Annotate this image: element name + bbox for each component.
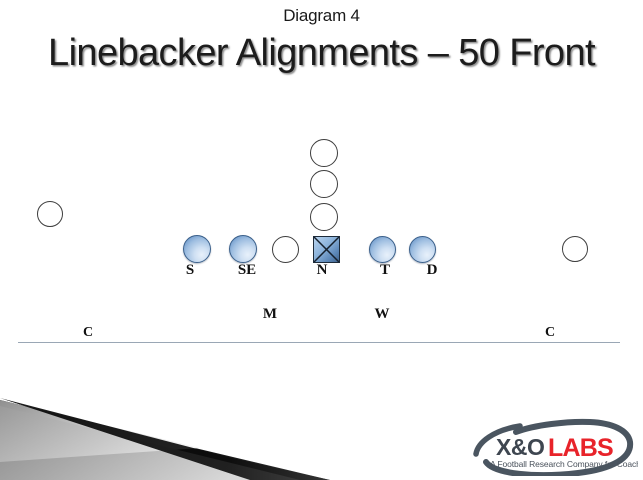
defensive-lineman-s [183, 235, 211, 263]
logo-graphic: X&O LABS A Football Research Company for… [472, 418, 638, 476]
label-defensive-lineman-t: T [375, 262, 395, 279]
label-cornerback-right: C [542, 325, 558, 341]
offense-center-stack-1 [310, 139, 338, 167]
label-cornerback-left: C [80, 325, 96, 341]
offense-center [272, 236, 299, 263]
offense-receiver-left [37, 201, 63, 227]
offense-receiver-right [562, 236, 588, 262]
label-linebacker-will: W [371, 306, 393, 323]
sideline-line [18, 342, 620, 343]
logo-tagline: A Football Research Company for Coaches [490, 459, 638, 469]
logo-brand-secondary: LABS [548, 434, 613, 462]
brand-logo: X&O LABS A Football Research Company for… [472, 418, 638, 476]
defensive-lineman-d [409, 236, 436, 263]
defensive-lineman-se [229, 235, 257, 263]
defensive-lineman-n [313, 236, 340, 263]
x-mark-icon [314, 237, 339, 262]
slide-canvas: Diagram 4 Linebacker Alignments – 50 Fro… [0, 0, 643, 480]
logo-brand-primary: X&O [496, 434, 544, 460]
football-field-diagram: S SE N T D M W C C [0, 0, 643, 480]
label-defensive-lineman-s: S [180, 262, 200, 279]
label-defensive-lineman-se: SE [232, 262, 262, 279]
label-defensive-lineman-d: D [422, 262, 442, 279]
defensive-lineman-t [369, 236, 396, 263]
label-defensive-lineman-n: N [312, 262, 332, 279]
offense-center-stack-2 [310, 170, 338, 198]
label-linebacker-mike: M [260, 306, 280, 323]
offense-center-stack-3 [310, 203, 338, 231]
